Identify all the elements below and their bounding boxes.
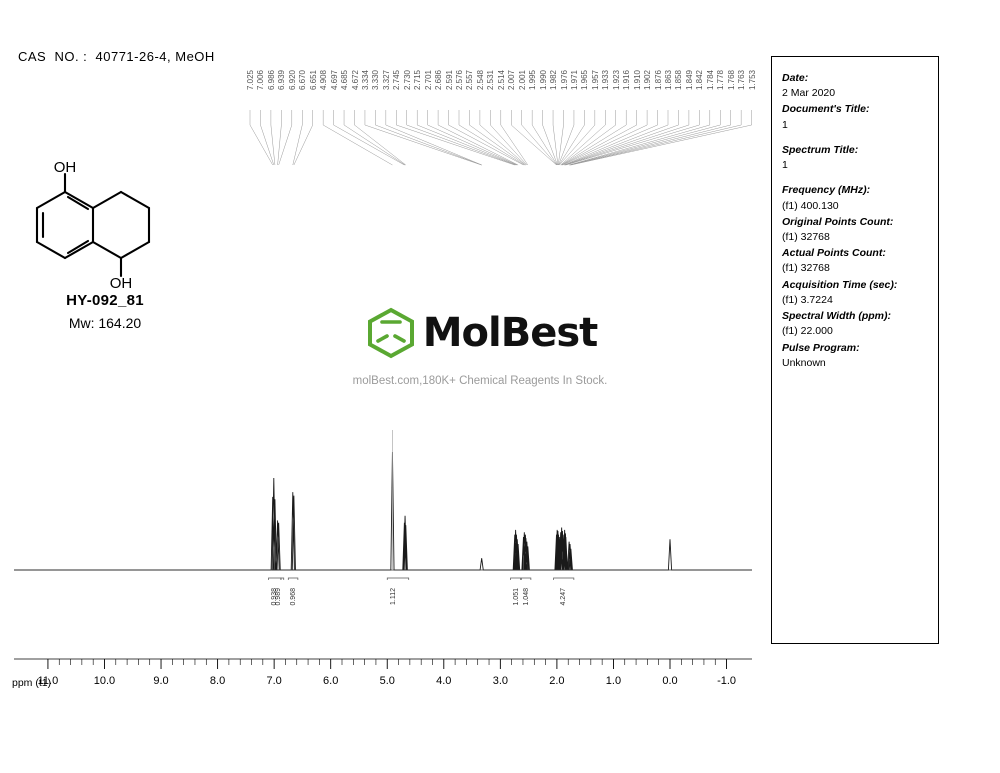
cas-number-header: CAS NO. : 40771-26-4, MeOH (18, 49, 215, 64)
axis-tick-label: 4.0 (436, 675, 451, 687)
axis-tick-label: 3.0 (493, 675, 508, 687)
info-field-value: (f1) 400.130 (782, 199, 928, 214)
oh-bottom-label: OH (110, 275, 133, 290)
peak-leader-line (469, 110, 525, 165)
info-field-key: Pulse Program: (782, 341, 928, 356)
info-field-key: Document's Title: (782, 102, 928, 117)
spectrum-info-panel: Date:2 Mar 2020Document's Title:1Spectru… (771, 56, 939, 644)
info-field-key: Acquisition Time (sec): (782, 278, 928, 293)
molbest-logo: MolBest (330, 305, 630, 361)
integral-bracket (281, 578, 284, 580)
peak-leader-line (558, 110, 563, 165)
info-field-key: Original Points Count: (782, 215, 928, 230)
peak-leader-line (278, 110, 282, 165)
integral-bracket (387, 578, 408, 580)
info-field-value: (f1) 22.000 (782, 324, 928, 339)
peak-leader-line (459, 110, 524, 165)
peak-leader-lines (0, 70, 770, 180)
info-field-key: Date: (782, 71, 928, 86)
peak-leader-line (543, 110, 558, 165)
watermark: MolBest molBest.com,180K+ Chemical Reage… (330, 305, 630, 387)
info-field-value: (f1) 32768 (782, 230, 928, 245)
peak-leader-line (565, 110, 679, 165)
axis-tick-label: 11.0 (38, 675, 59, 687)
axis-tick-label: 8.0 (210, 675, 225, 687)
integral-value: 1.048 (523, 588, 530, 606)
info-field-key: Actual Points Count: (782, 246, 928, 261)
axis-tick-label: 2.0 (549, 675, 564, 687)
integral-bracket (288, 578, 298, 580)
peak-leader-line (522, 110, 557, 165)
peak-leader-line (260, 110, 273, 165)
axis-ticks (0, 655, 770, 677)
compound-name: HY-092_81 (10, 292, 200, 309)
spectrum-trace (14, 452, 752, 570)
peak-leader-line (532, 110, 557, 165)
integral-value: 1.112 (390, 588, 397, 605)
info-field-key: Spectral Width (ppm): (782, 309, 928, 324)
peak-leader-line (559, 110, 574, 165)
info-spacer (782, 174, 928, 183)
integral-bracket (521, 578, 531, 580)
integral-value: 0.989 (275, 588, 282, 606)
peak-leader-line (553, 110, 558, 165)
integral-value: 0.968 (290, 588, 297, 606)
integral-bracket (268, 578, 280, 580)
axis-tick-label: 1.0 (606, 675, 621, 687)
peak-leader-line (250, 110, 273, 165)
peak-leader-line (562, 110, 637, 165)
integral-value: 4.247 (560, 588, 567, 606)
peak-leader-line (355, 110, 406, 165)
integral-value: 1.051 (513, 588, 520, 606)
molecular-weight-label: Mw: 164.20 (10, 315, 200, 331)
watermark-tagline: molBest.com,180K+ Chemical Reagents In S… (330, 375, 630, 387)
hexagon-logo-icon (363, 305, 419, 361)
integral-bracket (554, 578, 574, 580)
info-field-key: Frequency (MHz): (782, 183, 928, 198)
info-field-value: (f1) 3.7224 (782, 293, 928, 308)
logo-wordmark: MolBest (423, 313, 598, 353)
peak-leader-line (365, 110, 482, 165)
info-field-value: (f1) 32768 (782, 261, 928, 276)
info-field-key: Spectrum Title: (782, 143, 928, 158)
peak-leader-line (501, 110, 528, 165)
axis-tick-label: 6.0 (323, 675, 338, 687)
nmr-spectrum-plot (0, 430, 770, 580)
peak-leader-line (344, 110, 405, 165)
peak-leader-line (570, 110, 741, 165)
axis-tick-label: 7.0 (266, 675, 281, 687)
chemical-structure-panel: OH OH HY-092_81 Mw: 164.20 (10, 160, 200, 331)
peak-leader-line (294, 110, 313, 165)
axis-tick-label: 9.0 (153, 675, 168, 687)
ppm-axis: ppm (t1) 11.010.09.08.07.06.05.04.03.02.… (0, 655, 770, 695)
integral-bracket (511, 578, 521, 580)
peak-leader-line (375, 110, 481, 165)
peak-leader-line (438, 110, 518, 165)
peak-leader-line (569, 110, 720, 165)
peak-leader-line (559, 110, 585, 165)
info-field-value: 1 (782, 158, 928, 173)
axis-tick-label: 0.0 (662, 675, 677, 687)
info-field-value: 1 (782, 118, 928, 133)
peak-leader-line (271, 110, 275, 165)
axis-tick-label: -1.0 (717, 675, 736, 687)
info-field-value: 2 Mar 2020 (782, 86, 928, 101)
info-spacer (782, 134, 928, 143)
peak-leader-line (279, 110, 292, 165)
axis-tick-label: 5.0 (380, 675, 395, 687)
info-field-value: Unknown (782, 356, 928, 371)
axis-tick-label: 10.0 (94, 675, 115, 687)
